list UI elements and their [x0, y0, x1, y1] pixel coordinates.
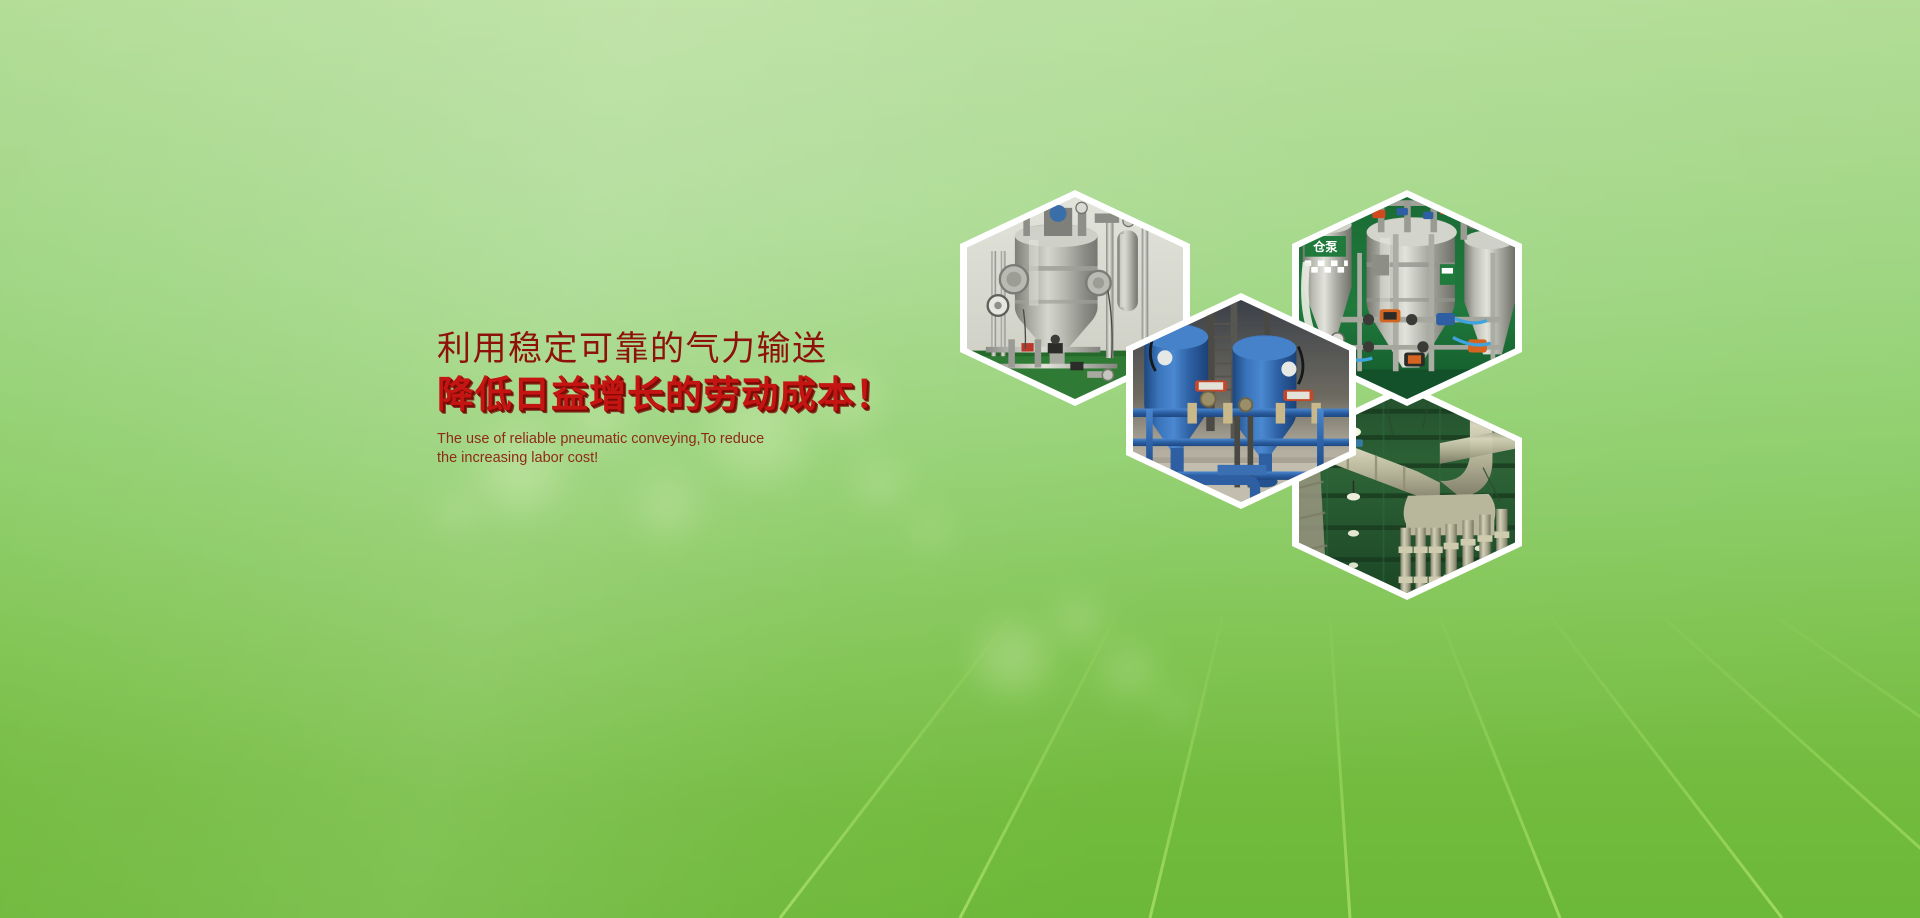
- bokeh-blob: [433, 487, 483, 537]
- hex-image-blue-tanks: [1133, 300, 1349, 502]
- hero-banner: 利用稳定可靠的气力输送 降低日益增长的劳动成本！ The use of reli…: [0, 0, 1920, 918]
- svg-text:仓泵: 仓泵: [1312, 239, 1338, 254]
- hexagon-image-collage: 仓泵: [960, 190, 1680, 730]
- bokeh-blob: [632, 470, 704, 542]
- bokeh-blob: [907, 507, 953, 553]
